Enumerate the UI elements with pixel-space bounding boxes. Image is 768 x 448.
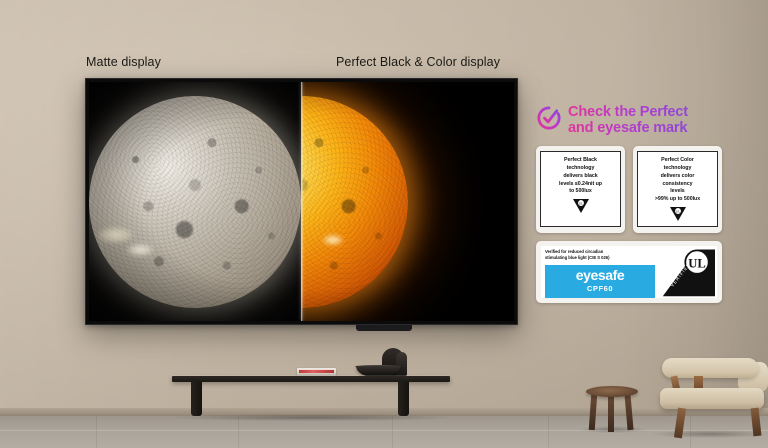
card-line: technology xyxy=(559,165,602,173)
eyesafe-card-inner: Verified for reduced circadian stimulati… xyxy=(541,246,717,298)
eyesafe-left-block: Verified for reduced circadian stimulati… xyxy=(541,246,659,298)
wooden-round-stool xyxy=(586,386,638,397)
card-line: delivers color xyxy=(655,173,700,181)
card-line: to 500lux xyxy=(559,188,602,196)
eyesafe-fineprint: Verified for reduced circadian stimulati… xyxy=(545,249,655,261)
comparison-divider-line xyxy=(301,82,303,321)
promo-headline-line1: Check the Perfect xyxy=(568,104,688,120)
card-line: consistency xyxy=(655,181,700,189)
eyesafe-ul-block: UL VERIFIED V.7.4.5.3.3.4 xyxy=(659,246,717,298)
perfect-black-card-text: Perfect Black technology delivers black … xyxy=(559,157,602,197)
bench-top-highlight xyxy=(172,375,450,376)
promo-headline-row: Check the Perfect and eyesafe mark xyxy=(536,104,722,137)
ul-shield-mark: UL xyxy=(571,198,591,214)
card-line: technology xyxy=(655,165,700,173)
vivid-sun-disc xyxy=(302,96,408,308)
black-sculptural-object-panel xyxy=(396,352,407,376)
scene-root: Matte display Perfect Black & Color disp… xyxy=(0,0,768,448)
eyesafe-fineprint-line2: stimulating blue light (CIE S 026) xyxy=(545,255,655,261)
bench-floor-shadow xyxy=(168,414,456,421)
solar-flare xyxy=(127,244,153,256)
tv-stand xyxy=(356,325,412,331)
perfect-black-card: Perfect Black technology delivers black … xyxy=(536,146,625,234)
card-line: levels xyxy=(655,188,700,196)
matte-half xyxy=(89,82,302,321)
promo-headline-line2: and eyesafe mark xyxy=(568,120,688,136)
card-line: delivers black xyxy=(559,173,602,181)
card-line: Perfect Black xyxy=(559,157,602,165)
card-line: >99% up to 500lux xyxy=(655,196,700,204)
bench-leg-right xyxy=(398,382,409,416)
perfect-color-card-text: Perfect Color technology delivers color … xyxy=(655,157,700,205)
card-line: Perfect Color xyxy=(655,157,700,165)
floor-tile-seam xyxy=(96,416,97,448)
tv-screen xyxy=(89,82,514,321)
svg-text:UL: UL xyxy=(688,257,706,271)
ul-verified-mark: UL VERIFIED V.7.4.5.3.3.4 xyxy=(661,247,715,297)
sun-speckle-texture xyxy=(89,96,301,308)
stool-leg xyxy=(608,394,614,432)
perfect-black-card-inner: Perfect Black technology delivers black … xyxy=(540,151,621,228)
perfect-color-card-inner: Perfect Color technology delivers color … xyxy=(637,151,718,228)
svg-text:UL: UL xyxy=(675,210,680,214)
sun-comparison-image xyxy=(89,82,514,321)
perfect-color-card: Perfect Color technology delivers color … xyxy=(633,146,722,234)
certification-cards: Perfect Black technology delivers black … xyxy=(536,146,722,234)
check-circle-icon xyxy=(536,105,562,131)
bench-leg-left xyxy=(191,382,202,416)
svg-text:UL: UL xyxy=(578,202,583,206)
eyesafe-wordmark: eyesafe xyxy=(576,268,625,282)
floor-tile-seam xyxy=(548,416,549,448)
armchair-seat xyxy=(660,388,764,409)
label-perfect-display: Perfect Black & Color display xyxy=(336,55,500,69)
promo-headline: Check the Perfect and eyesafe mark xyxy=(568,104,688,137)
book-spine-band xyxy=(299,370,334,373)
card-line: levels ≤0.24nit up xyxy=(559,181,602,189)
vivid-half xyxy=(302,82,515,321)
sun-speckle-texture xyxy=(302,96,408,308)
television xyxy=(85,78,518,325)
matte-sun-disc xyxy=(89,96,301,308)
eyesafe-card: Verified for reduced circadian stimulati… xyxy=(536,241,722,303)
solar-flare xyxy=(98,227,132,243)
eyesafe-logo-block: eyesafe CPF60 xyxy=(545,265,655,299)
armchair-floor-shadow xyxy=(652,430,768,438)
eyesafe-model: CPF60 xyxy=(587,284,613,293)
ul-shield-mark: UL xyxy=(668,206,688,222)
certification-panel: Check the Perfect and eyesafe mark Perfe… xyxy=(536,104,722,303)
label-matte-display: Matte display xyxy=(86,55,161,69)
